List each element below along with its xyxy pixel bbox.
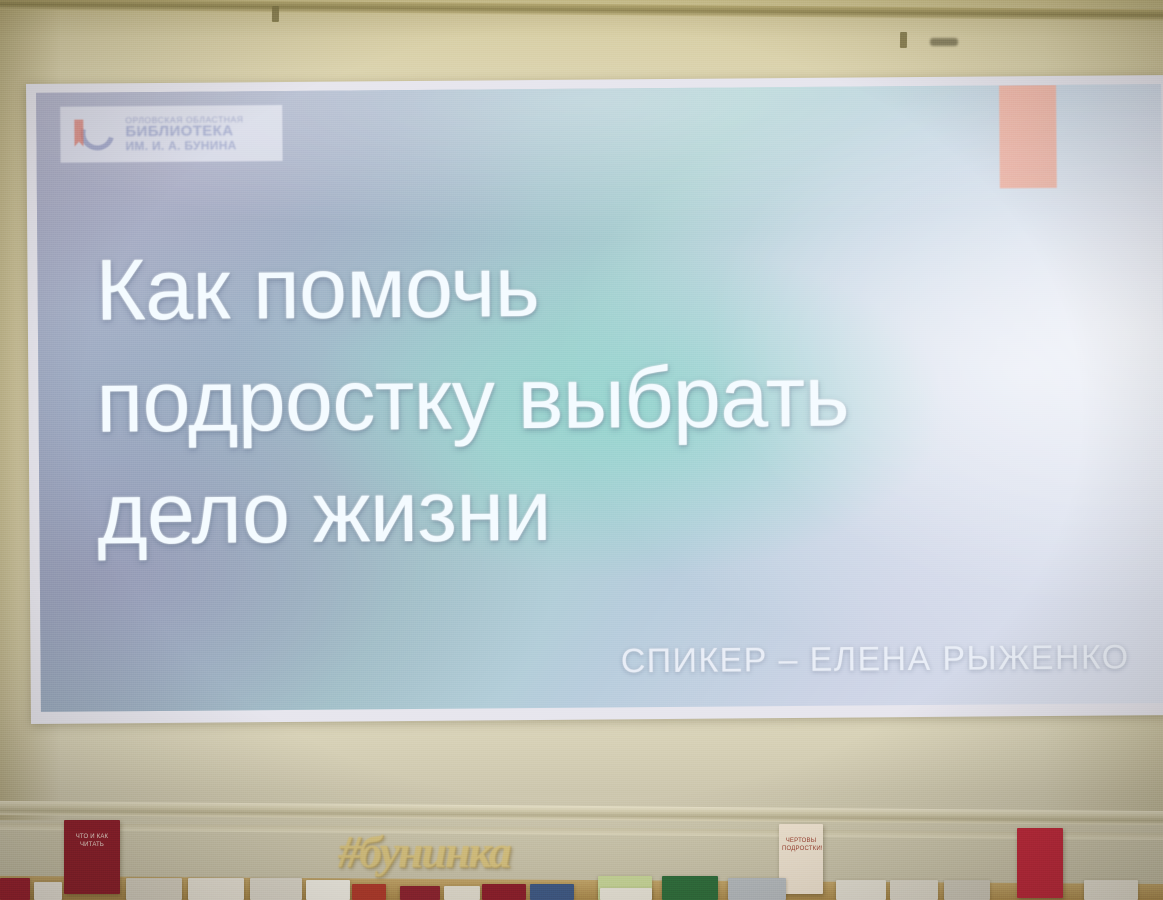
flat-book — [400, 886, 440, 900]
curtain-rail — [0, 0, 1163, 21]
flat-book — [890, 880, 938, 900]
library-logo-text: ОРЛОВСКАЯ ОБЛАСТНАЯ БИБЛИОТЕКА ИМ. И. А.… — [125, 115, 244, 152]
flat-book — [250, 878, 302, 900]
bookmark-ribbon-icon — [74, 120, 83, 147]
book-title: ЧТО И КАК ЧИТАТЬ — [64, 833, 120, 849]
flat-book — [0, 878, 30, 900]
room-photo: ОРЛОВСКАЯ ОБЛАСТНАЯ БИБЛИОТЕКА ИМ. И. А.… — [0, 0, 1163, 900]
flat-book — [34, 882, 62, 900]
flat-book — [944, 880, 990, 900]
flat-book — [444, 886, 480, 900]
flat-book — [482, 884, 526, 900]
standing-book: ЧТО И КАК ЧИТАТЬ — [64, 820, 120, 894]
flat-book — [600, 888, 652, 900]
flat-book — [662, 876, 718, 900]
accent-block — [999, 85, 1057, 188]
flat-book — [188, 878, 244, 900]
wooden-hashtag-sign: #бунинка — [338, 824, 618, 880]
headline-line-3: дело жизни — [97, 451, 1088, 571]
book-title: ЧЕРТОВЫ ПОДРОСТКИ! — [779, 837, 823, 853]
ceiling-smudge — [930, 38, 958, 46]
flat-book — [728, 878, 786, 900]
flat-book — [1084, 880, 1138, 900]
curtain-rail-bracket — [900, 32, 907, 48]
curtain-rail-bracket — [272, 6, 279, 22]
flat-book — [126, 878, 182, 900]
library-logo: ОРЛОВСКАЯ ОБЛАСТНАЯ БИБЛИОТЕКА ИМ. И. А.… — [60, 105, 282, 163]
slide-headline: Как помочь подростку выбрать дело жизни — [95, 227, 1088, 571]
book-logo-icon — [68, 112, 118, 156]
headline-line-2: подростку выбрать — [96, 339, 1087, 459]
standing-book — [1017, 828, 1063, 898]
speaker-credit: СПИКЕР – ЕЛЕНА РЫЖЕНКО — [621, 638, 1130, 681]
flat-book — [836, 880, 886, 900]
flat-book — [352, 884, 386, 900]
book-display: #бунинка ЧТО И КАК ЧИТАТЬЧЕРТОВЫ ПОДРОСТ… — [0, 818, 1163, 900]
flat-book — [306, 880, 350, 900]
logo-line-3: ИМ. И. А. БУНИНА — [125, 139, 243, 152]
projection-screen: ОРЛОВСКАЯ ОБЛАСТНАЯ БИБЛИОТЕКА ИМ. И. А.… — [26, 75, 1163, 724]
flat-book — [530, 884, 574, 900]
presentation-slide: ОРЛОВСКАЯ ОБЛАСТНАЯ БИБЛИОТЕКА ИМ. И. А.… — [36, 84, 1163, 712]
headline-line-1: Как помочь — [95, 227, 1086, 347]
